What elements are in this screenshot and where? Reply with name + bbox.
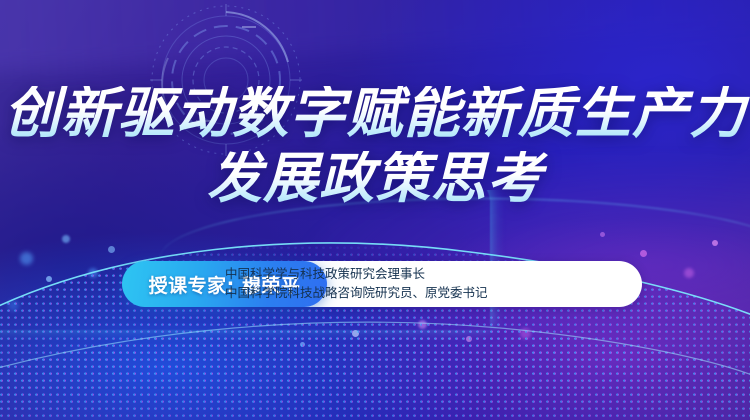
credential-line-2: 中国科学院科技战略咨询院研究员、原党委书记 bbox=[225, 284, 625, 301]
title-line-1: 创新驱动数字赋能新质生产力 bbox=[0, 86, 750, 141]
title-line-2: 发展政策思考 bbox=[0, 151, 750, 206]
promo-poster: 创新驱动数字赋能新质生产力 发展政策思考 授课专家: 穆荣平 中国科学学与科技政… bbox=[0, 0, 750, 420]
credential-line-1: 中国科学学与科技政策研究会理事长 bbox=[225, 265, 625, 282]
page-title: 创新驱动数字赋能新质生产力 发展政策思考 bbox=[0, 86, 750, 206]
speaker-credentials: 中国科学学与科技政策研究会理事长 中国科学院科技战略咨询院研究员、原党委书记 bbox=[225, 265, 625, 301]
